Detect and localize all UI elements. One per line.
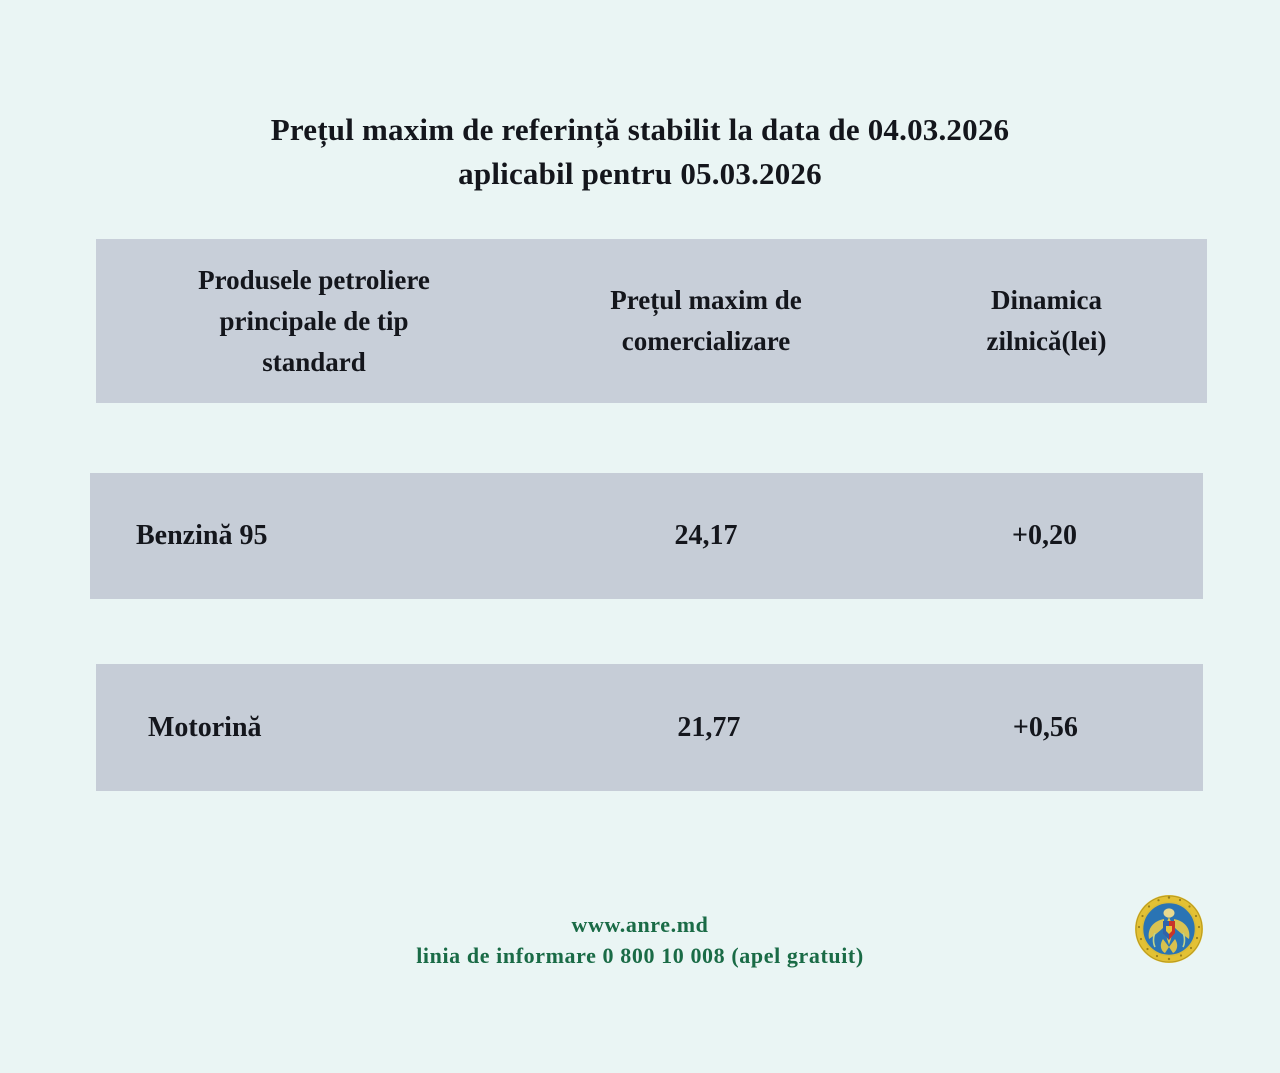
document-page: Prețul maxim de referință stabilit la da… <box>0 0 1280 1073</box>
column-header-product-line-1: Produsele petroliere <box>102 260 526 301</box>
cell-daily-change: +0,20 <box>886 519 1203 553</box>
column-header-dynamics: Dinamica zilnică(lei) <box>886 280 1207 362</box>
table-header-row: Produsele petroliere principale de tip s… <box>96 239 1207 403</box>
column-header-price: Prețul maxim de comercializare <box>526 280 886 362</box>
column-header-product: Produsele petroliere principale de tip s… <box>96 260 526 383</box>
cell-daily-change: +0,56 <box>888 711 1203 745</box>
column-header-price-line-2: comercializare <box>526 321 886 362</box>
table-row: Benzină 95 24,17 +0,20 <box>90 473 1203 599</box>
column-header-dynamics-line-1: Dinamica <box>886 280 1207 321</box>
column-header-product-line-2: principale de tip <box>102 301 526 342</box>
cell-product-name: Benzină 95 <box>90 519 526 553</box>
column-header-price-line-1: Prețul maxim de <box>526 280 886 321</box>
page-title: Prețul maxim de referință stabilit la da… <box>0 108 1280 196</box>
footer: www.anre.md linia de informare 0 800 10 … <box>0 909 1280 971</box>
column-header-dynamics-line-2: zilnică(lei) <box>886 321 1207 362</box>
footer-website[interactable]: www.anre.md <box>0 909 1280 940</box>
cell-product-name: Motorină <box>96 711 530 745</box>
table-row: Motorină 21,77 +0,56 <box>96 664 1203 791</box>
title-line-2: aplicabil pentru 05.03.2026 <box>0 152 1280 196</box>
cell-max-price: 24,17 <box>526 519 886 553</box>
cell-max-price: 21,77 <box>530 711 888 745</box>
anre-emblem-icon <box>1133 893 1205 965</box>
title-line-1: Prețul maxim de referință stabilit la da… <box>0 108 1280 152</box>
footer-info-line: linia de informare 0 800 10 008 (apel gr… <box>0 940 1280 971</box>
column-header-product-line-3: standard <box>102 342 526 383</box>
